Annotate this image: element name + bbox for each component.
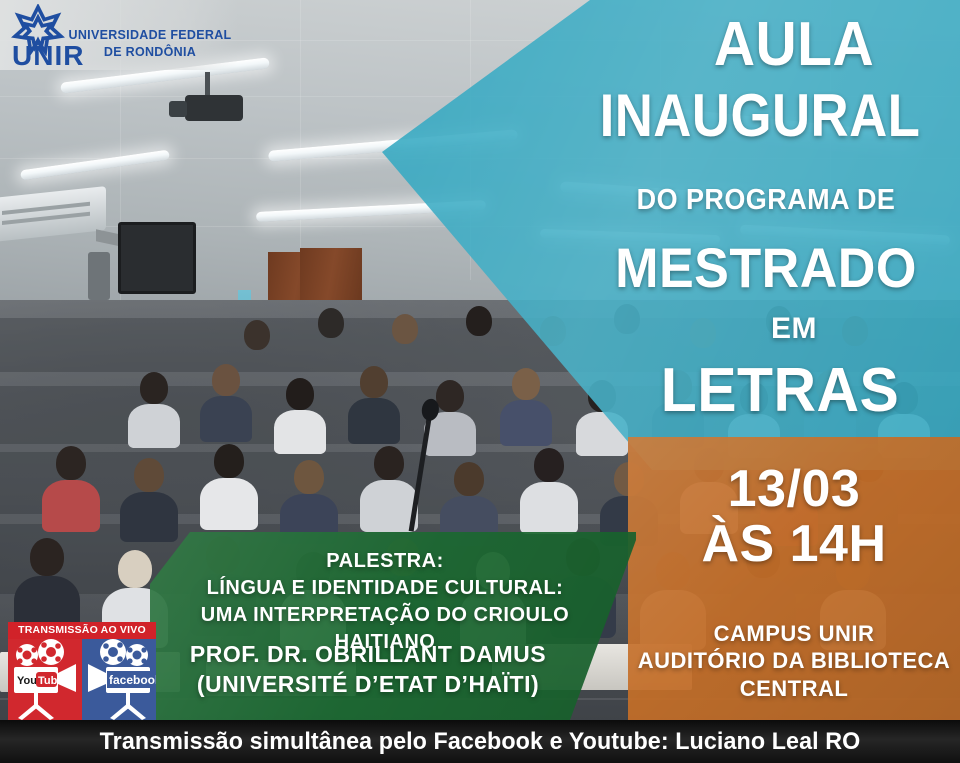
facebook-wordmark: facebook bbox=[109, 673, 156, 687]
film-camera-icon: facebook bbox=[82, 639, 156, 720]
unir-logo-block: UNIR UNIVERSIDADE FEDERAL DE RONDÔNIA bbox=[0, 0, 238, 70]
headline-letras: LETRAS bbox=[609, 360, 951, 422]
event-time: ÀS 14H bbox=[628, 517, 960, 572]
film-camera-icon: You Tube bbox=[8, 639, 82, 720]
event-date: 13/03 bbox=[628, 462, 960, 517]
event-poster: AULA INAUGURAL DO PROGRAMA DE MESTRADO E… bbox=[0, 0, 960, 763]
speaker-affiliation: (UNIVERSITÉ D’ETAT D’HAÏTI) bbox=[150, 670, 586, 700]
facebook-live-badge[interactable]: facebook bbox=[82, 639, 156, 720]
youtube-you-text: You bbox=[17, 675, 37, 687]
live-label: TRANSMISSÃO AO VIVO bbox=[8, 622, 156, 639]
unir-full-name: UNIVERSIDADE FEDERAL DE RONDÔNIA bbox=[66, 27, 234, 60]
headline-em: EM bbox=[628, 314, 960, 344]
talk-label: PALESTRA: bbox=[150, 548, 620, 575]
headline-mestrado: MESTRADO bbox=[586, 240, 947, 296]
talk-title-line-1: LÍNGUA E IDENTIDADE CULTURAL: bbox=[150, 575, 620, 602]
venue-line-3: CENTRAL bbox=[628, 675, 960, 702]
venue-line-1: CAMPUS UNIR bbox=[628, 620, 960, 647]
footer-bar: Transmissão simultânea pelo Facebook e Y… bbox=[0, 720, 960, 763]
speaker-details: PROF. DR. OBRILLANT DAMUS (UNIVERSITÉ D’… bbox=[150, 640, 586, 700]
projector bbox=[185, 95, 243, 121]
headline-do-programa-de: DO PROGRAMA DE bbox=[586, 186, 947, 215]
headline-aula: AULA bbox=[641, 14, 946, 76]
speaker-name: PROF. DR. OBRILLANT DAMUS bbox=[150, 640, 586, 670]
headline-inaugural: INAUGURAL bbox=[584, 86, 936, 146]
footer-text: Transmissão simultânea pelo Facebook e Y… bbox=[14, 720, 945, 763]
unir-name-line-2: DE RONDÔNIA bbox=[66, 44, 234, 61]
venue-line-2: AUDITÓRIO DA BIBLIOTECA bbox=[628, 647, 960, 674]
wall-tv bbox=[118, 222, 196, 294]
youtube-tube-text: Tube bbox=[38, 675, 63, 687]
unir-name-line-1: UNIVERSIDADE FEDERAL bbox=[66, 27, 234, 44]
wall-equipment-box bbox=[88, 252, 110, 300]
event-datetime: 13/03 ÀS 14H bbox=[628, 462, 960, 572]
youtube-live-badge[interactable]: You Tube bbox=[8, 639, 82, 720]
event-venue: CAMPUS UNIR AUDITÓRIO DA BIBLIOTECA CENT… bbox=[628, 620, 960, 702]
live-broadcast-badges: TRANSMISSÃO AO VIVO Yo bbox=[8, 622, 156, 720]
